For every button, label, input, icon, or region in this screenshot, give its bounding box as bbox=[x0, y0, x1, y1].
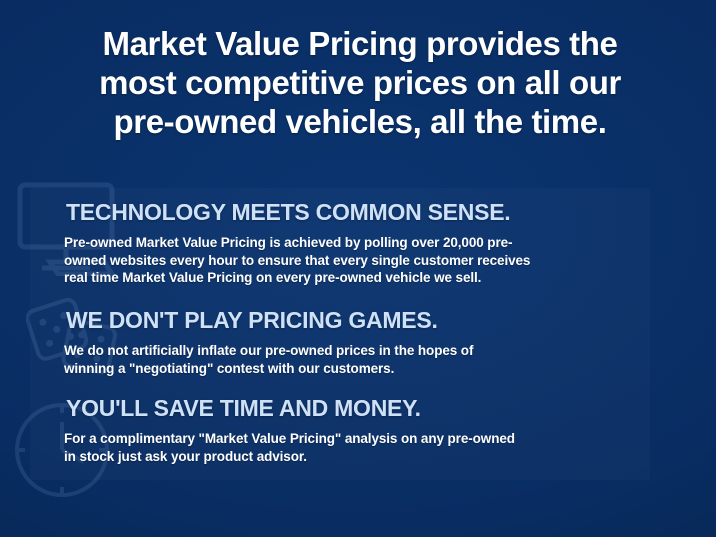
section-heading: WE DON'T PLAY PRICING GAMES. bbox=[66, 306, 664, 334]
section-body: We do not artificially inflate our pre-o… bbox=[64, 342, 664, 377]
section-body-line: For a complimentary "Market Value Pricin… bbox=[64, 430, 664, 448]
section-heading: TECHNOLOGY MEETS COMMON SENSE. bbox=[66, 198, 664, 226]
marketing-slide: Market Value Pricing provides the most c… bbox=[0, 0, 716, 537]
section-save-time-money: YOU'LL SAVE TIME AND MONEY. For a compli… bbox=[64, 394, 664, 465]
section-pricing-games: WE DON'T PLAY PRICING GAMES. We do not a… bbox=[64, 306, 664, 377]
section-heading: YOU'LL SAVE TIME AND MONEY. bbox=[66, 394, 664, 422]
headline-line-3: pre-owned vehicles, all the time. bbox=[40, 102, 680, 141]
section-body: Pre-owned Market Value Pricing is achiev… bbox=[64, 234, 664, 287]
section-body: For a complimentary "Market Value Pricin… bbox=[64, 430, 664, 465]
section-body-line: winning a "negotiating" contest with our… bbox=[64, 360, 664, 378]
section-technology: TECHNOLOGY MEETS COMMON SENSE. Pre-owned… bbox=[64, 198, 664, 287]
headline-line-2: most competitive prices on all our bbox=[40, 63, 680, 102]
section-body-line: We do not artificially inflate our pre-o… bbox=[64, 342, 664, 360]
page-title: Market Value Pricing provides the most c… bbox=[40, 24, 680, 141]
section-body-line: in stock just ask your product advisor. bbox=[64, 448, 664, 466]
section-body-line: Pre-owned Market Value Pricing is achiev… bbox=[64, 234, 664, 252]
headline-line-1: Market Value Pricing provides the bbox=[40, 24, 680, 63]
section-body-line: real time Market Value Pricing on every … bbox=[64, 269, 664, 287]
section-body-line: owned websites every hour to ensure that… bbox=[64, 252, 664, 270]
